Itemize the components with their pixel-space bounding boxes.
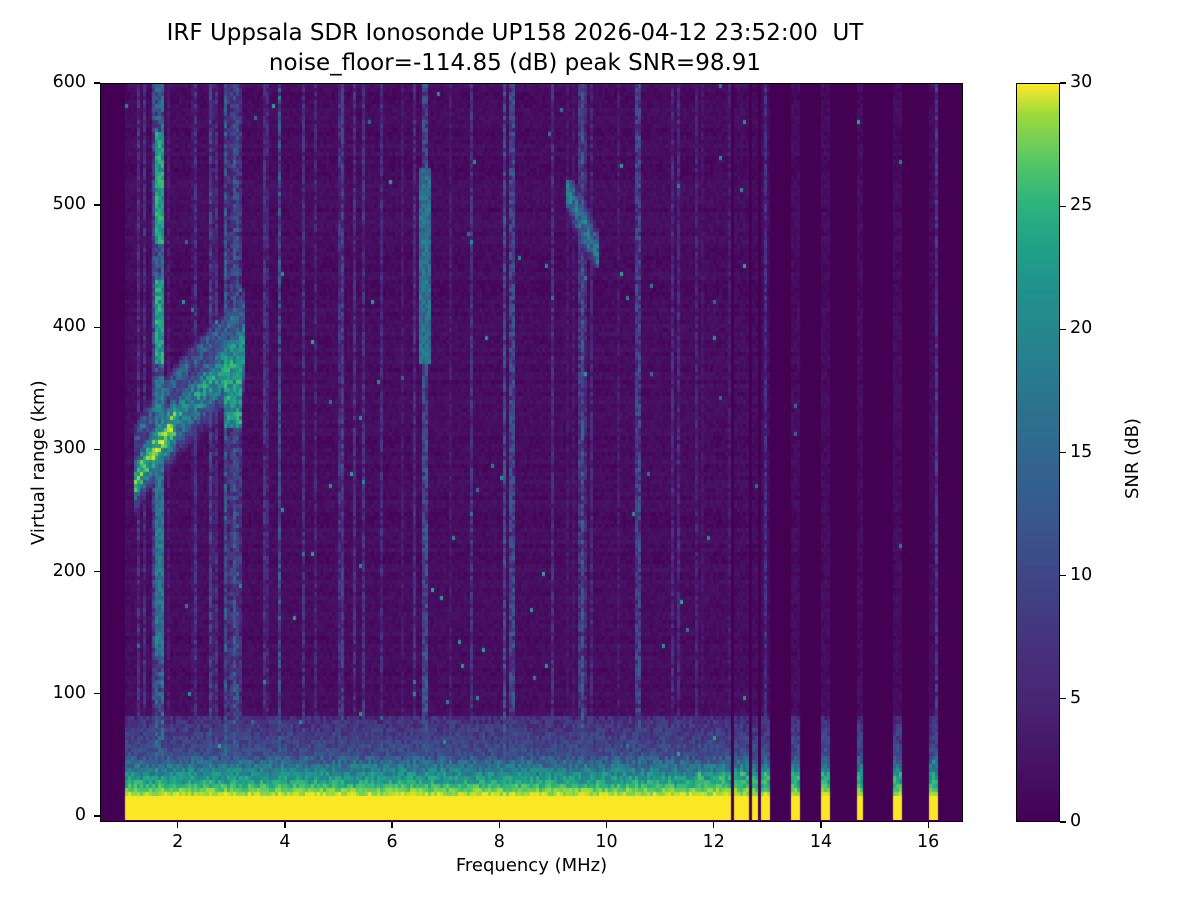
x-tick-label: 12 xyxy=(684,834,744,852)
colorbar-tick-label: 30 xyxy=(1070,74,1092,92)
x-tick-mark xyxy=(606,822,607,828)
x-tick-mark xyxy=(713,822,714,828)
snr-colorbar[interactable] xyxy=(1016,83,1060,822)
colorbar-tick-label: 0 xyxy=(1070,813,1081,831)
y-tick-mark xyxy=(94,327,100,328)
x-tick-label: 6 xyxy=(362,834,422,852)
x-tick-mark xyxy=(284,822,285,828)
y-tick-mark xyxy=(94,571,100,572)
ionogram-plot-area[interactable] xyxy=(100,83,963,822)
colorbar-tick-mark xyxy=(1060,206,1066,207)
x-tick-label: 10 xyxy=(577,834,637,852)
x-tick-mark xyxy=(928,822,929,828)
colorbar-tick-label: 10 xyxy=(1070,567,1092,585)
x-tick-mark xyxy=(820,822,821,828)
colorbar-tick-mark xyxy=(1060,329,1066,330)
y-tick-mark xyxy=(94,693,100,694)
colorbar-tick-mark xyxy=(1060,575,1066,576)
colorbar-tick-mark xyxy=(1060,452,1066,453)
ionogram-heatmap-canvas[interactable] xyxy=(101,84,961,820)
x-tick-label: 16 xyxy=(898,834,958,852)
colorbar-tick-mark xyxy=(1060,821,1066,822)
title-line-2: noise_floor=-114.85 (dB) peak SNR=98.91 xyxy=(0,48,1030,78)
x-tick-mark xyxy=(499,822,500,828)
x-tick-label: 8 xyxy=(469,834,529,852)
y-tick-label: 0 xyxy=(6,807,86,825)
x-tick-label: 4 xyxy=(255,834,315,852)
y-tick-label: 600 xyxy=(6,74,86,92)
y-tick-label: 100 xyxy=(6,685,86,703)
y-tick-mark xyxy=(94,82,100,83)
y-tick-label: 400 xyxy=(6,318,86,336)
colorbar-tick-label: 5 xyxy=(1070,690,1081,708)
title-line-1: IRF Uppsala SDR Ionosonde UP158 2026-04-… xyxy=(0,18,1030,48)
x-tick-mark xyxy=(391,822,392,828)
x-tick-label: 2 xyxy=(148,834,208,852)
colorbar-label: SNR (dB) xyxy=(1122,418,1143,499)
x-axis-label: Frequency (MHz) xyxy=(100,855,963,876)
y-tick-mark xyxy=(94,449,100,450)
colorbar-tick-mark xyxy=(1060,698,1066,699)
figure-title: IRF Uppsala SDR Ionosonde UP158 2026-04-… xyxy=(0,18,1030,78)
y-tick-label: 200 xyxy=(6,563,86,581)
colorbar-tick-mark xyxy=(1060,82,1066,83)
colorbar-tick-label: 15 xyxy=(1070,444,1092,462)
x-tick-label: 14 xyxy=(791,834,851,852)
x-tick-mark xyxy=(177,822,178,828)
y-tick-label: 500 xyxy=(6,196,86,214)
colorbar-tick-label: 20 xyxy=(1070,320,1092,338)
colorbar-tick-label: 25 xyxy=(1070,197,1092,215)
y-axis-label: Virtual range (km) xyxy=(28,380,49,545)
y-tick-mark xyxy=(94,204,100,205)
ionogram-figure: IRF Uppsala SDR Ionosonde UP158 2026-04-… xyxy=(0,0,1200,900)
y-tick-mark xyxy=(94,815,100,816)
